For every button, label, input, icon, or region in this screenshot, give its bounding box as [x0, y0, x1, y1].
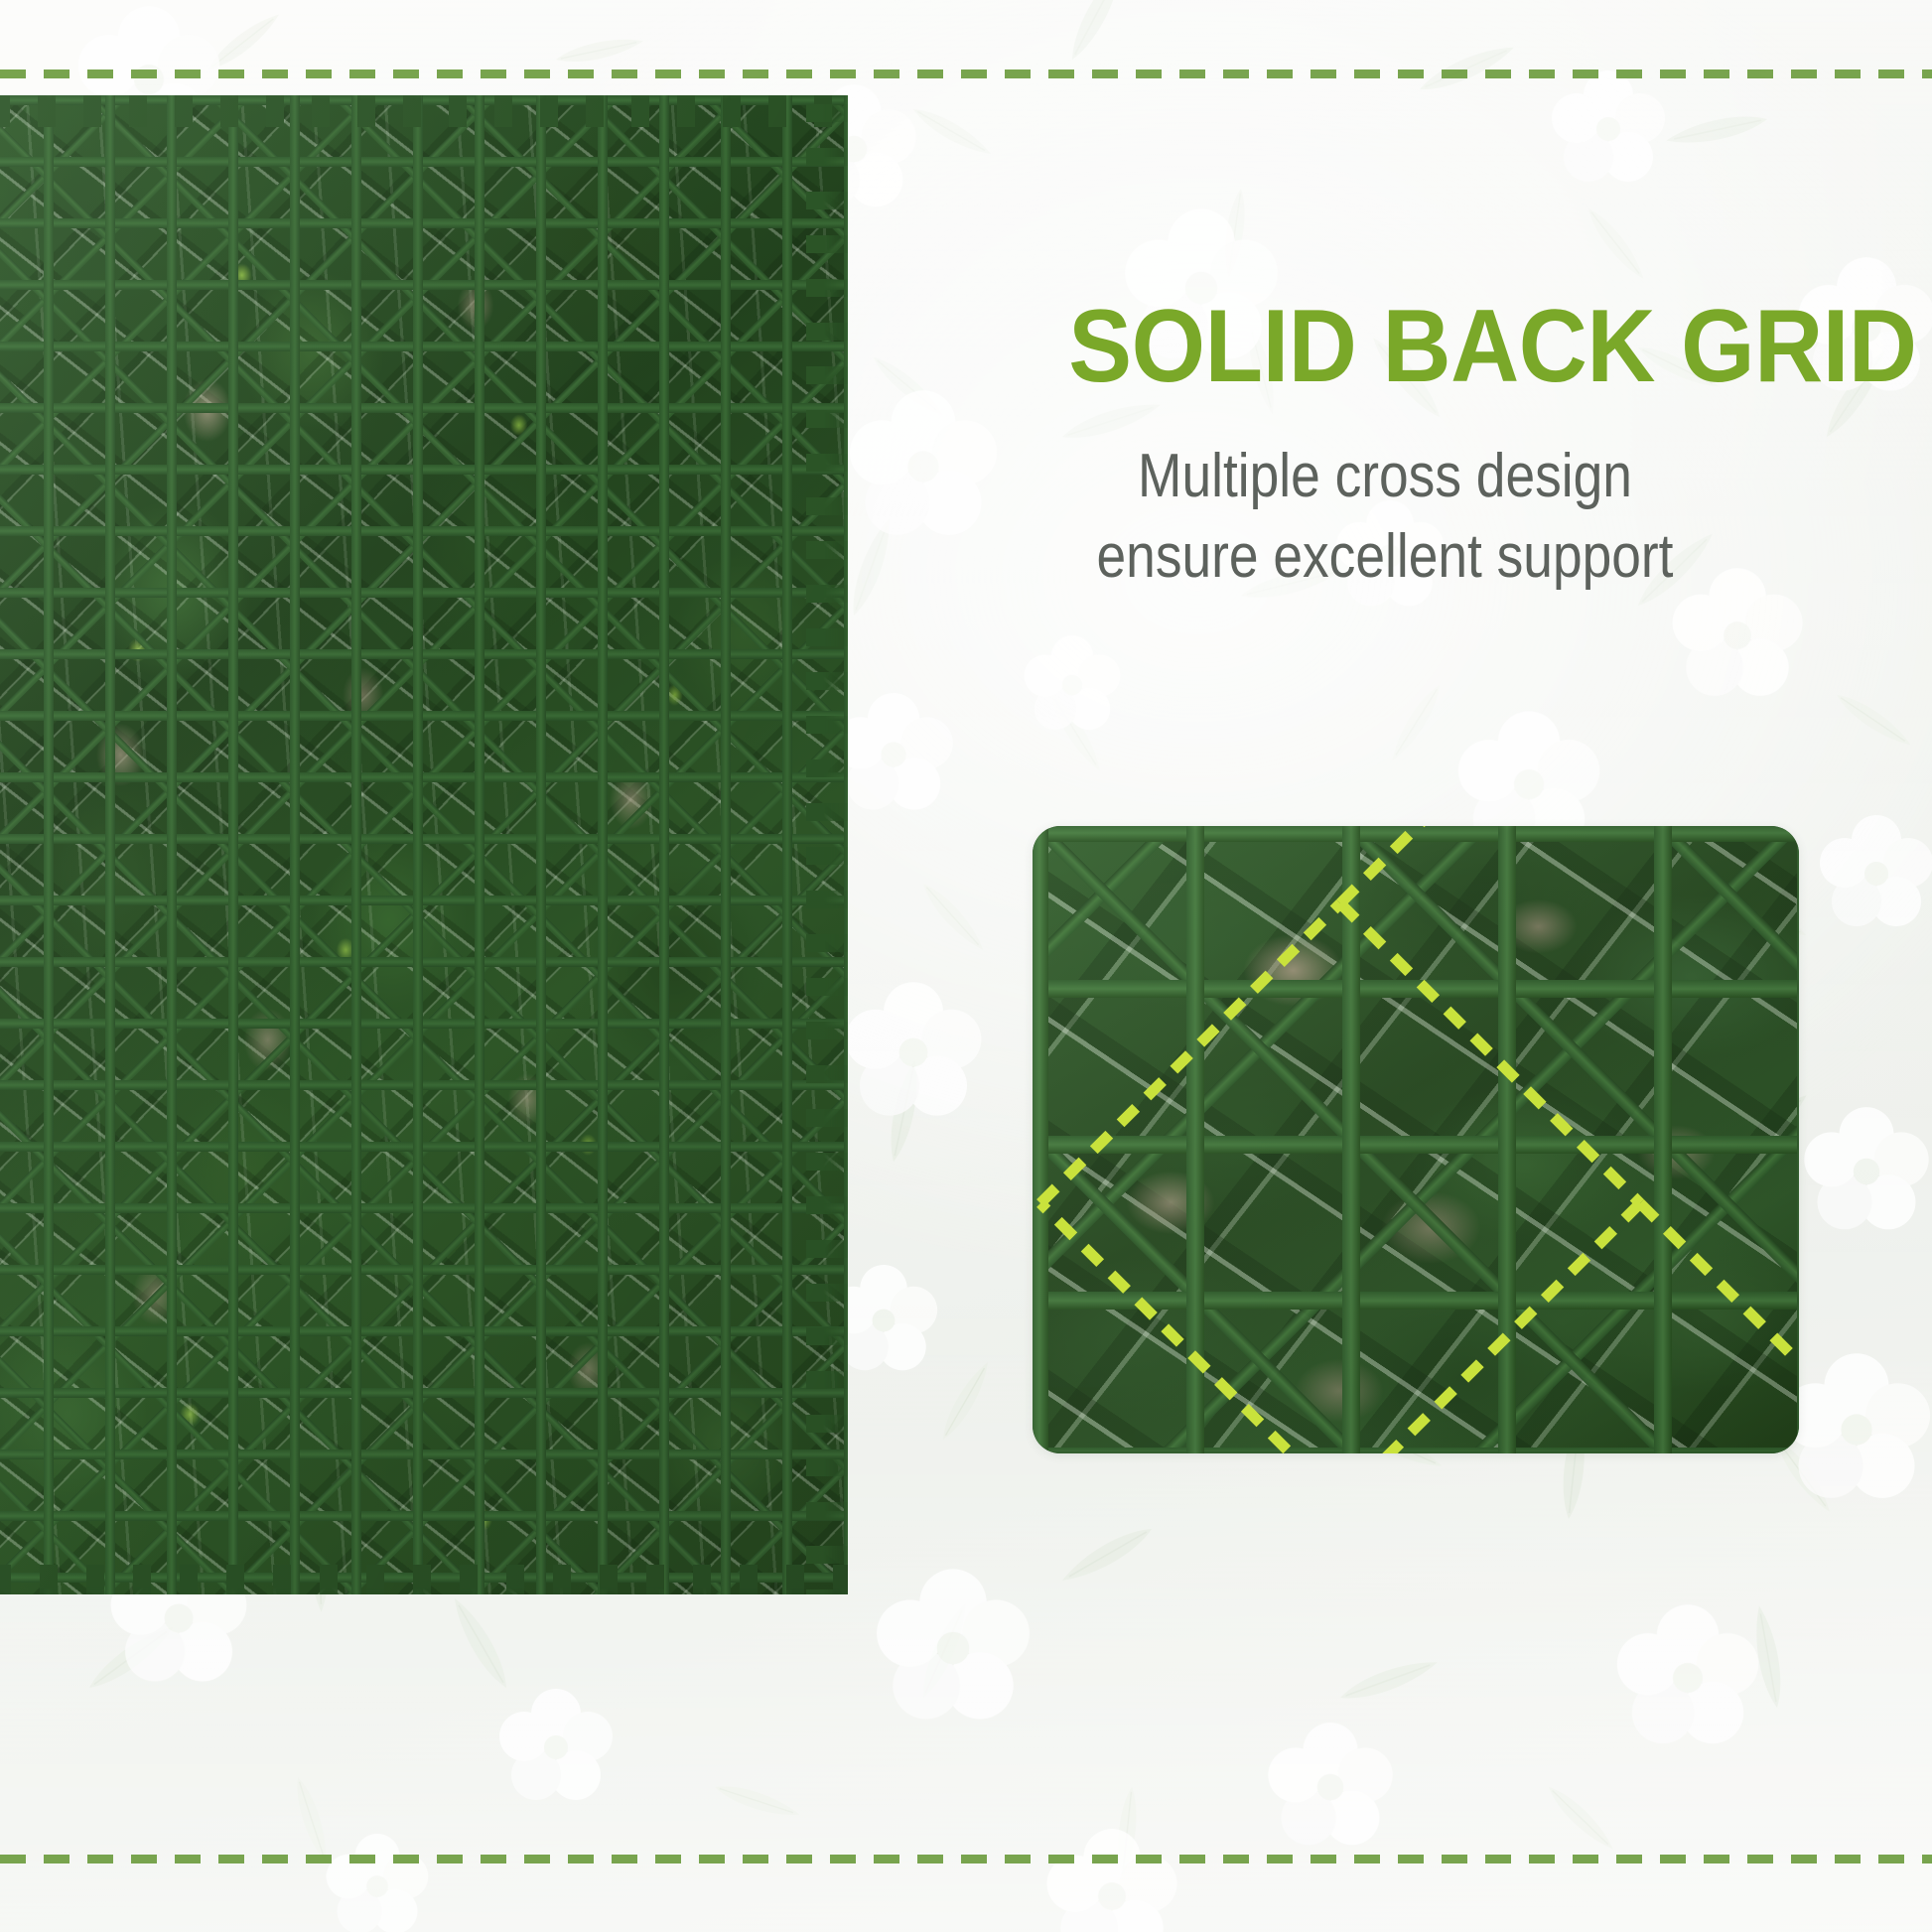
- bottom-dashed-rule: [0, 1855, 1932, 1863]
- product-feature-banner: SOLID BACK GRID Multiple cross design en…: [0, 0, 1932, 1932]
- top-dashed-rule: [0, 69, 1932, 78]
- inset-detail-photo: [1033, 826, 1799, 1453]
- inset-shading: [1033, 826, 1799, 1453]
- page-title: SOLID BACK GRID: [0, 294, 1932, 399]
- subtitle-block: Multiple cross design ensure excellent s…: [854, 437, 1916, 597]
- headline-text: SOLID BACK GRID: [1068, 294, 1916, 399]
- subtitle-line-1: Multiple cross design: [928, 437, 1842, 517]
- subtitle-line-2: ensure excellent support: [928, 517, 1842, 598]
